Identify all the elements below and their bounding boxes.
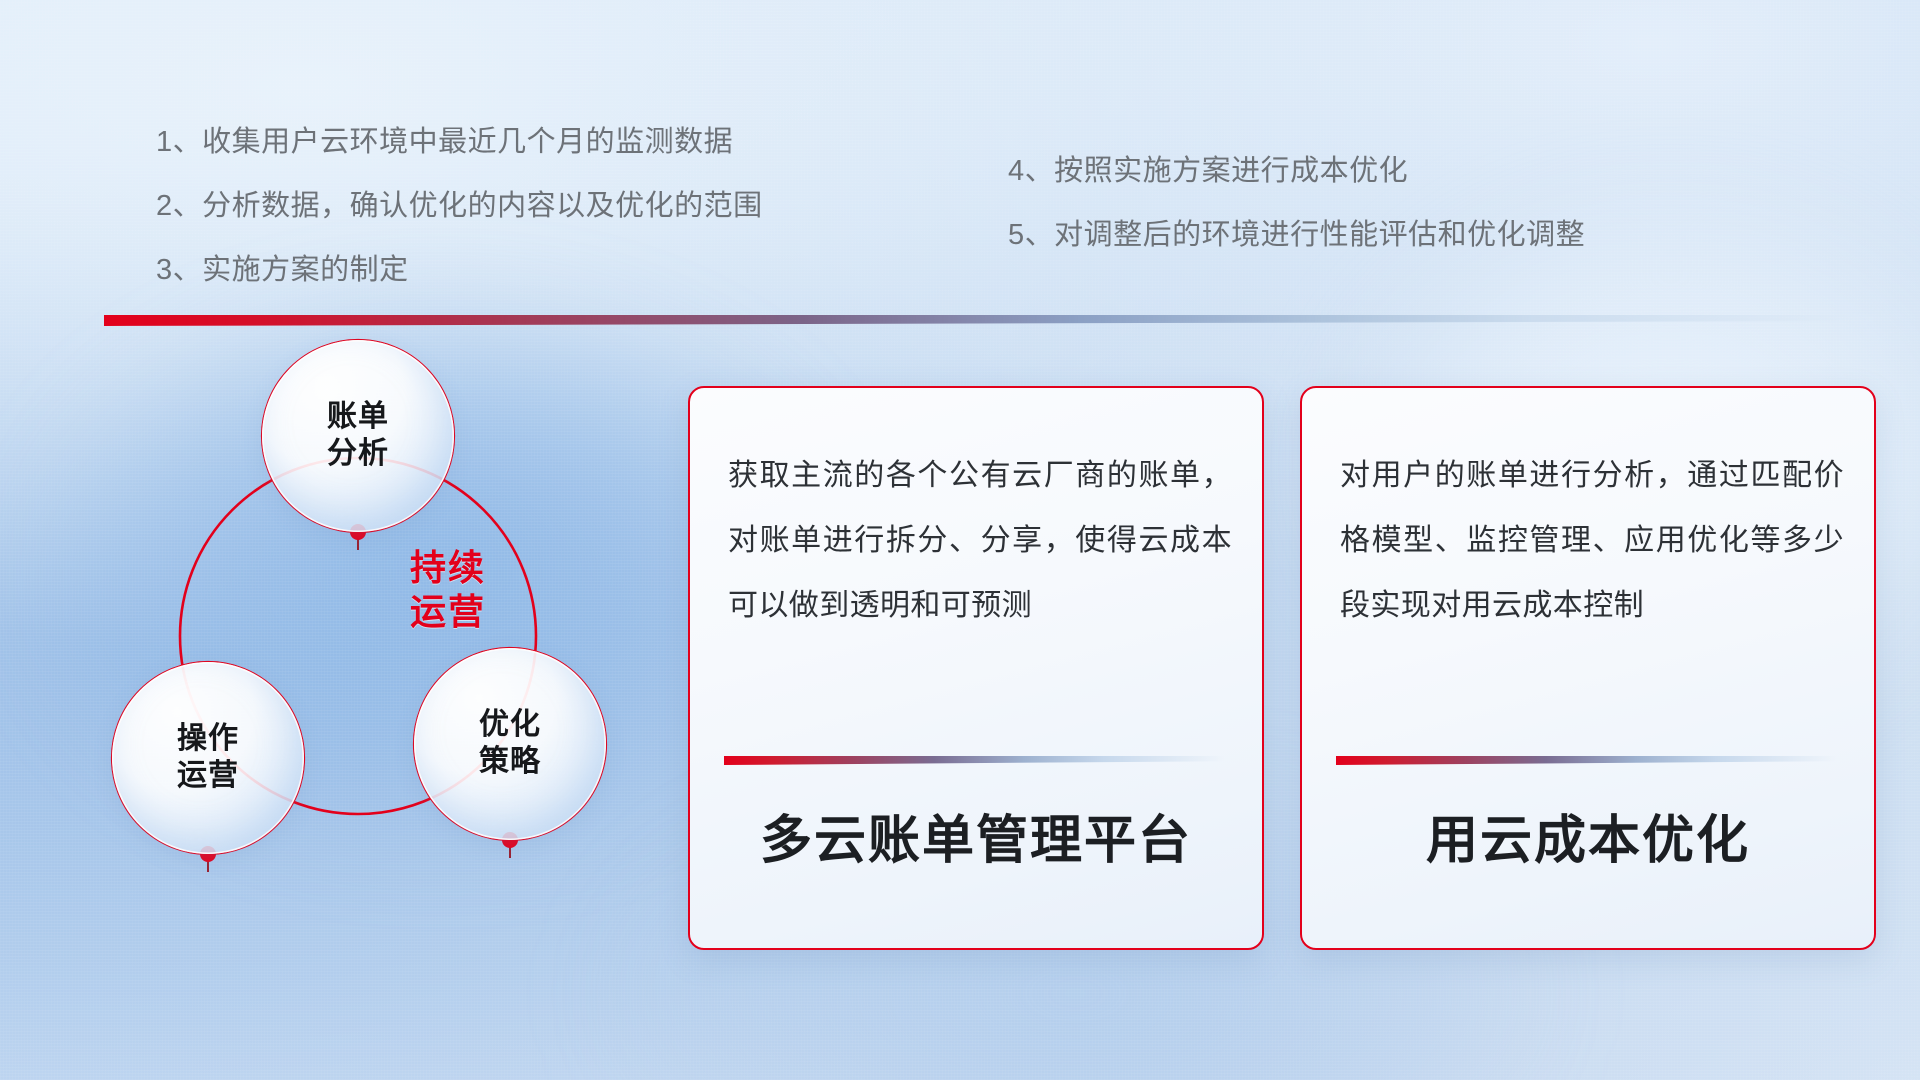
card-body: 获取主流的各个公有云厂商的账单，对账单进行拆分、分享，使得云成本可以做到透明和可… (728, 444, 1232, 638)
venn-diagram: 账单 分析 操作 运营 优化 策略 持续 运营 (96, 352, 656, 952)
venn-center-line1: 持续 (410, 547, 486, 588)
feature-card-multicloud-billing[interactable]: 获取主流的各个公有云厂商的账单，对账单进行拆分、分享，使得云成本可以做到透明和可… (688, 386, 1264, 950)
step-item-5: 5、对调整后的环境进行性能评估和优化调整 (1008, 221, 1585, 250)
venn-bubble-policy[interactable]: 优化 策略 (414, 648, 606, 840)
venn-label-line2: 策略 (479, 745, 541, 778)
card-title: 多云账单管理平台 (690, 798, 1262, 873)
card-title: 用云成本优化 (1302, 798, 1874, 873)
venn-label-line1: 优化 (479, 708, 541, 741)
steps-list-right: 4、按照实施方案进行成本优化 5、对调整后的环境进行性能评估和优化调整 (1008, 157, 1585, 285)
venn-bubble-label: 优化 策略 (479, 707, 541, 780)
card-rule (724, 756, 1224, 765)
card-rule (1336, 756, 1836, 765)
venn-label-line1: 操作 (177, 722, 239, 755)
venn-bubble-label: 操作 运营 (177, 721, 239, 794)
step-item-4: 4、按照实施方案进行成本优化 (1008, 157, 1585, 186)
divider-bar (104, 315, 1848, 326)
step-item-2: 2、分析数据，确认优化的内容以及优化的范围 (156, 192, 763, 221)
venn-bubble-label: 账单 分析 (327, 399, 389, 472)
steps-list-left: 1、收集用户云环境中最近几个月的监测数据 2、分析数据，确认优化的内容以及优化的… (156, 128, 763, 320)
venn-bubble-operations[interactable]: 操作 运营 (112, 662, 304, 854)
feature-card-cost-optimization[interactable]: 对用户的账单进行分析，通过匹配价格模型、监控管理、应用优化等多少段实现对用云成本… (1300, 386, 1876, 950)
venn-label-line2: 分析 (327, 437, 389, 470)
venn-center-label: 持续 运营 (358, 546, 538, 634)
venn-label-line2: 运营 (177, 759, 239, 792)
venn-bubble-bill-analysis[interactable]: 账单 分析 (262, 340, 454, 532)
step-item-1: 1、收集用户云环境中最近几个月的监测数据 (156, 128, 763, 157)
section-divider (104, 315, 1848, 326)
venn-center-line2: 运营 (410, 591, 486, 632)
venn-label-line1: 账单 (327, 400, 389, 433)
card-body: 对用户的账单进行分析，通过匹配价格模型、监控管理、应用优化等多少段实现对用云成本… (1340, 444, 1844, 638)
step-item-3: 3、实施方案的制定 (156, 256, 763, 285)
